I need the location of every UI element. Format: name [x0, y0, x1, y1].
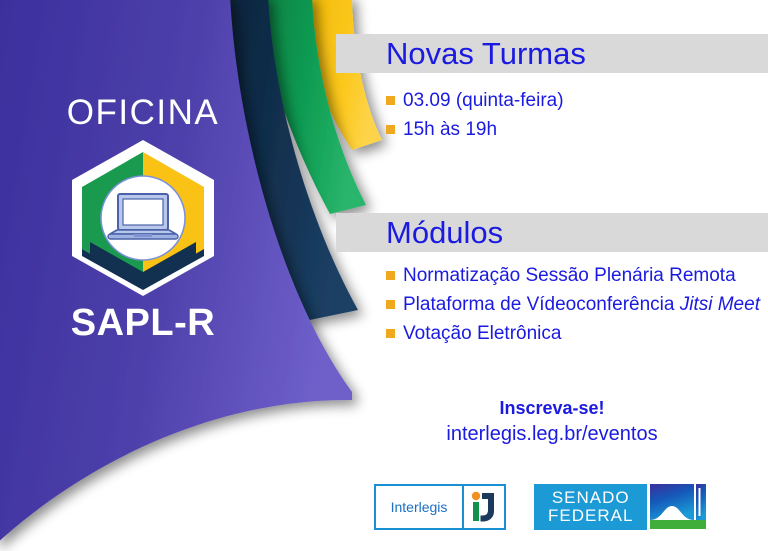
section-title-modulos: Módulos — [386, 213, 503, 252]
interlegis-logo: Interlegis — [374, 484, 506, 530]
bullet-square-icon — [386, 96, 395, 105]
list-item: Normatização Sessão Plenária Remota — [386, 263, 760, 289]
right-content-column: Novas Turmas 03.09 (quinta-feira) 15h às… — [336, 0, 768, 551]
interlegis-wordmark: Interlegis — [376, 486, 462, 528]
list-item: 15h às 19h — [386, 117, 564, 143]
interlegis-ij-mark-icon — [462, 486, 504, 528]
bullet-square-icon — [386, 271, 395, 280]
list-item-label: 15h às 19h — [403, 117, 497, 143]
footer-logos: Interlegis SENADO FEDERAL — [374, 484, 706, 530]
bullet-square-icon — [386, 300, 395, 309]
list-item-label: Votação Eletrônica — [403, 321, 561, 347]
list-item: 03.09 (quinta-feira) — [386, 88, 564, 114]
senado-federal-logo: SENADO FEDERAL — [534, 484, 706, 530]
hexagon-mark — [68, 138, 218, 298]
list-item-label: Plataforma de Vídeoconferência Jitsi Mee… — [403, 292, 760, 318]
signup-block: Inscreva-se! interlegis.leg.br/eventos — [336, 396, 768, 448]
list-item: Plataforma de Vídeoconferência Jitsi Mee… — [386, 292, 760, 318]
sapl-r-word: SAPL-R — [71, 304, 215, 342]
poster-canvas: OFICINA — [0, 0, 768, 551]
sapl-r-logo-block: OFICINA — [18, 95, 268, 370]
signup-url[interactable]: interlegis.leg.br/eventos — [336, 420, 768, 448]
bullet-square-icon — [386, 125, 395, 134]
section-title-novas-turmas: Novas Turmas — [386, 34, 586, 73]
signup-headline: Inscreva-se! — [336, 396, 768, 420]
list-item-emphasis: Jitsi Meet — [680, 294, 760, 315]
section-list-novas-turmas: 03.09 (quinta-feira) 15h às 19h — [386, 88, 564, 146]
list-item-text: Plataforma de Vídeoconferência — [403, 294, 680, 315]
list-item: Votação Eletrônica — [386, 321, 760, 347]
congresso-nacional-mark-icon — [650, 484, 706, 530]
section-list-modulos: Normatização Sessão Plenária Remota Plat… — [386, 263, 760, 350]
bullet-square-icon — [386, 329, 395, 338]
oficina-word: OFICINA — [67, 95, 219, 130]
senado-line-1: SENADO — [552, 489, 630, 507]
senado-wordmark: SENADO FEDERAL — [534, 484, 647, 530]
laptop-icon — [108, 194, 178, 239]
list-item-label: Normatização Sessão Plenária Remota — [403, 263, 736, 289]
senado-line-2: FEDERAL — [548, 507, 633, 525]
list-item-label: 03.09 (quinta-feira) — [403, 88, 564, 114]
